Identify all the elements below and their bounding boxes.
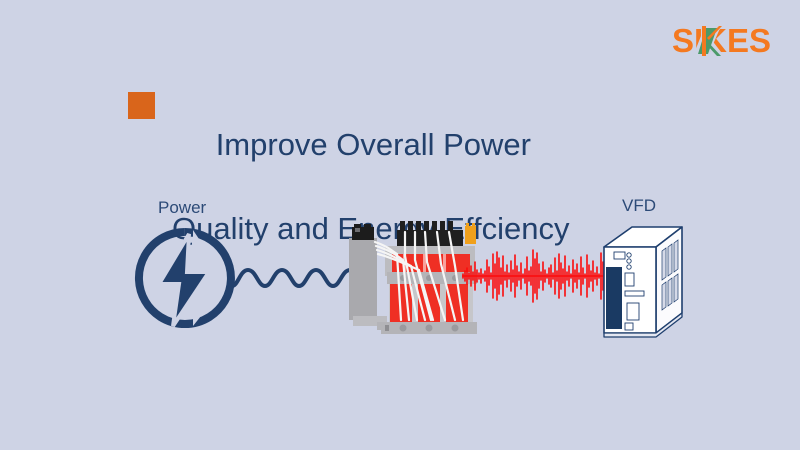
power-label: Power <box>158 198 206 218</box>
orange-connector <box>465 226 476 244</box>
vfd-drive-icon <box>596 221 688 341</box>
svg-text:SIKES: SIKES <box>672 22 771 59</box>
title-bullet-square <box>128 92 155 119</box>
transformer-icon <box>345 216 480 342</box>
vfd-label: VFD <box>622 196 656 216</box>
sikes-logo: SIKES SIKES <box>672 20 782 62</box>
harmonic-distortion-wave <box>462 244 618 308</box>
title-line-1: Improve Overall Power <box>216 127 531 162</box>
slide-canvas: SIKES SIKES Improve Overall Power Qualit… <box>0 0 800 450</box>
logo-mark-icon: SIKES <box>672 20 782 62</box>
capacitor-body <box>349 238 377 320</box>
lightning-bolt-circle-icon <box>133 226 237 330</box>
transformer-unit <box>345 216 480 342</box>
vfd-drive <box>596 221 688 341</box>
power-source-icon <box>133 226 237 330</box>
noisy-waveform-icon <box>462 244 618 308</box>
